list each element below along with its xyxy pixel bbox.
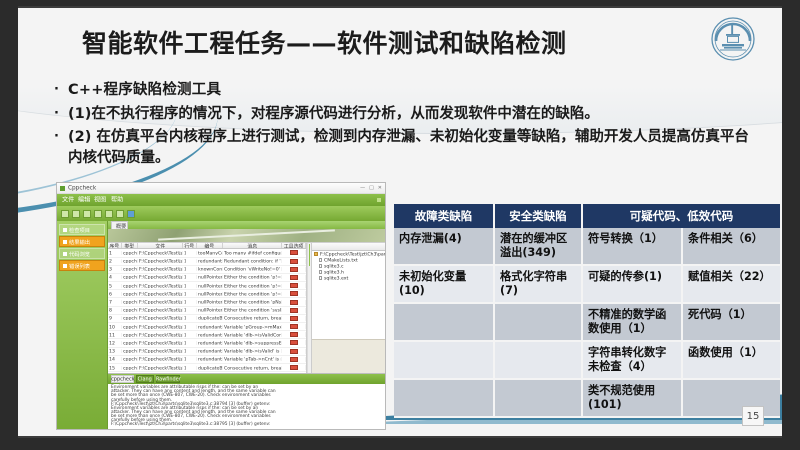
error-badge-icon xyxy=(290,340,298,345)
table-cell: 未初始化变量(10) xyxy=(394,265,494,303)
table-row[interactable]: 12cppcheckF:\Cppcheck\Test\jzt\2cdp...84… xyxy=(108,339,306,347)
grid-cell-line: ] xyxy=(183,357,197,361)
warning-icon xyxy=(63,264,67,268)
file-tree-footer xyxy=(312,339,385,373)
grid-cell-sev: cppcheck xyxy=(122,259,138,263)
table-row[interactable]: 3cppcheckF:\Cppcheck\Test\jzt\2cdp...871… xyxy=(108,266,306,274)
log-tab-rawfinder[interactable]: Rawfinder xyxy=(156,375,181,383)
grid-cell-msg: Either the condition 'pNs!=0' is redunda… xyxy=(223,300,283,304)
grid-cell-line: ] xyxy=(183,333,197,337)
sidebar-item-error-list[interactable]: 错误列表 xyxy=(59,260,105,271)
grid-cell-sev: cppcheck xyxy=(122,357,138,361)
sidebar-item-code-browser[interactable]: 代码浏览 xyxy=(59,248,105,259)
table-row: 字符串转化数字未检查（4）函数使用（1） xyxy=(394,341,780,379)
table-header-row: 故障类缺陷 安全类缺陷 可疑代码、低效代码 xyxy=(394,204,780,228)
grid-cell-line: ] xyxy=(183,292,197,296)
grid-cell-msg: Either the condition 'p!=0' is redundant… xyxy=(223,292,283,296)
table-cell xyxy=(394,379,494,417)
table-cell: 符号转换（1） xyxy=(582,228,682,265)
grid-cell-sev: cppcheck xyxy=(122,333,138,337)
grid-cell-msg: Either the condition 'p!=0' is redundant… xyxy=(223,284,283,288)
grid-cell-no: 1 xyxy=(108,251,122,255)
page-number: 15 xyxy=(742,406,764,426)
app-main-pane: 概要 序号 类型 文件 行号 编号 消息 工具选项 xyxy=(108,221,385,429)
grid-cell-msg: Variable 'dlb->isValidConfExist' is reas… xyxy=(223,333,283,337)
grid-cell-file: F:\Cppcheck\Test\jzt\2cdp...8434 xyxy=(138,341,184,345)
grid-cell-id: nullPointerRed... xyxy=(197,308,223,312)
grid-cell-sev: cppcheck xyxy=(122,349,138,353)
log-tab-clang[interactable]: Clang xyxy=(136,375,153,383)
grid-cell-no: 12 xyxy=(108,341,122,345)
app-sidebar: 检查项目 结果输出 代码浏览 错误列表 xyxy=(57,221,108,429)
grid-cell-action[interactable] xyxy=(282,357,306,362)
grid-cell-no: 10 xyxy=(108,325,122,329)
grid-cell-line: ] xyxy=(183,259,197,263)
grid-cell-action[interactable] xyxy=(282,275,306,280)
grid-cell-id: nullPointerRed... xyxy=(197,300,223,304)
file-icon xyxy=(319,264,322,268)
list-item: · (2) 在仿真平台内核程序上进行测试，检测到内存泄漏、未初始化变量等缺陷，辅… xyxy=(54,127,754,168)
grid-cell-id: redundantAss... xyxy=(197,357,223,361)
grid-cell-sev: cppcheck xyxy=(122,316,138,320)
column-header-no[interactable]: 序号 xyxy=(108,243,122,248)
grid-cell-no: 4 xyxy=(108,275,122,279)
grid-cell-id: nullPointerRed... xyxy=(197,292,223,296)
grid-cell-line: ] xyxy=(183,366,197,370)
grid-cell-action[interactable] xyxy=(282,267,306,272)
grid-cell-id: duplicateBreak xyxy=(197,316,223,320)
grid-cell-file: F:\Cppcheck\Test\jzt\2cdp...8897 xyxy=(138,349,184,353)
table-cell: 类不规范使用(101) xyxy=(582,379,682,417)
table-cell xyxy=(394,341,494,379)
error-badge-icon xyxy=(290,291,298,296)
table-cell xyxy=(682,379,780,417)
app-menubar: 文件 编辑 视图 帮助 xyxy=(57,194,385,206)
grid-cell-id: duplicateBreak xyxy=(197,366,223,370)
toolbar-new-icon[interactable] xyxy=(61,210,69,218)
table-cell: 函数使用（1） xyxy=(682,341,780,379)
grid-cell-line: ] xyxy=(183,251,197,255)
app-window-title: Cppcheck xyxy=(68,185,96,191)
grid-cell-id: redundantAss... xyxy=(197,333,223,337)
grid-cell-msg: Variable 'dlb->suppressErr' is reassigne… xyxy=(223,341,283,345)
table-row: 内存泄漏(4)潜在的缓冲区溢出(349)符号转换（1）条件相关（6） xyxy=(394,228,780,265)
grid-cell-file: F:\Cppcheck\Test\jzt\2cdp...7807 xyxy=(138,333,184,337)
table-cell: 赋值相关（22） xyxy=(682,265,780,303)
error-badge-icon xyxy=(290,324,298,329)
grid-cell-no: 5 xyxy=(108,284,122,288)
grid-cell-msg: Either the condition 'sysItem!=0' is red… xyxy=(223,308,283,312)
file-tree-pane: F:\Cppcheck\Test\jzt\Ch3\parts\sqlite3 C… xyxy=(311,243,385,373)
grid-cell-id: tooManyConfigs xyxy=(197,251,223,255)
table-row[interactable]: 7cppcheckF:\Cppcheck\Test\jzt\2cdp...843… xyxy=(108,298,306,306)
toolbar-check-icon[interactable] xyxy=(94,210,102,218)
column-header-actions[interactable]: 工具选项 xyxy=(282,243,306,248)
grid-cell-no: 11 xyxy=(108,333,122,337)
grid-cell-no: 3 xyxy=(108,267,122,271)
log-line: F:\Cppcheck\Test\jzt\Ch3\parts\sqlite3\s… xyxy=(111,423,382,427)
bullet-text: C++程序缺陷检测工具 xyxy=(68,80,754,101)
grid-cell-file: F:\Cppcheck\Test\jzt\2cdp...8717 xyxy=(138,267,184,271)
error-badge-icon xyxy=(290,332,298,337)
error-badge-icon xyxy=(290,349,298,354)
app-grid-area: 序号 类型 文件 行号 编号 消息 工具选项 1cppcheckF:\Cppch… xyxy=(108,243,385,373)
column-header-line[interactable]: 行号 xyxy=(183,243,197,248)
toolbar-clear-icon[interactable] xyxy=(116,210,124,218)
grid-cell-file: F:\Cppcheck\Test\jzt\2cdp...8431 xyxy=(138,300,184,304)
grid-cell-id: nullPointerRed... xyxy=(197,284,223,288)
slide-bottom-rule xyxy=(18,436,782,438)
folder-icon xyxy=(314,252,318,256)
table-row: 不精准的数学函数使用（1）死代码（1） xyxy=(394,303,780,341)
table-row[interactable]: 1cppcheckF:\Cppcheck\Test\jzt\2cdp...3]t… xyxy=(108,249,306,257)
grid-cell-msg: Variable 'pTab->nCnt' is reassigned a va… xyxy=(223,357,283,361)
menu-item-file[interactable]: 文件 xyxy=(62,196,74,205)
grid-cell-file: F:\Cppcheck\Test\jzt\2cdp...4702 xyxy=(138,325,184,329)
list-item: · (1)在不执行程序的情况下，对程序源代码进行分析，从而发现软件中潜在的缺陷。 xyxy=(54,104,754,125)
grid-cell-sev: cppcheck xyxy=(122,366,138,370)
grid-cell-sev: cppcheck xyxy=(122,308,138,312)
grid-cell-line: ] xyxy=(183,267,197,271)
grid-cell-line: ] xyxy=(183,325,197,329)
grid-cell-msg: Either the condition 'p!=0' is redundant… xyxy=(223,275,283,279)
column-header-type[interactable]: 类型 xyxy=(122,243,138,248)
page-title: 智能软件工程任务——软件测试和缺陷检测 xyxy=(82,24,567,60)
results-table-body: 1cppcheckF:\Cppcheck\Test\jzt\2cdp...3]t… xyxy=(108,249,306,373)
grid-cell-file: F:\Cppcheck\Test\jzt\2cdp...7883 xyxy=(138,366,184,370)
sidebar-item-results[interactable]: 结果输出 xyxy=(59,236,105,247)
error-badge-icon xyxy=(290,275,298,280)
column-header-id[interactable]: 编号 xyxy=(197,243,223,248)
grid-cell-line: ] xyxy=(183,349,197,353)
column-header-message[interactable]: 消息 xyxy=(223,243,283,248)
defect-category-table: 故障类缺陷 安全类缺陷 可疑代码、低效代码 内存泄漏(4)潜在的缓冲区溢出(34… xyxy=(394,204,780,418)
table-row[interactable]: 15cppcheckF:\Cppcheck\Test\jzt\2cdp...78… xyxy=(108,364,306,372)
grid-cell-sev: cppcheck xyxy=(122,267,138,271)
grid-cell-action[interactable] xyxy=(282,365,306,370)
toolbar-stop-icon[interactable] xyxy=(105,210,113,218)
grid-cell-file: F:\Cppcheck\Test\jzt\2cdp...1126 xyxy=(138,357,184,361)
grid-cell-line: ] xyxy=(183,341,197,345)
bullet-text: (2) 在仿真平台内核程序上进行测试，检测到内存泄漏、未初始化变量等缺陷，辅助开… xyxy=(68,127,754,168)
grid-cell-action[interactable] xyxy=(282,324,306,329)
sidebar-item-label: 代码浏览 xyxy=(69,250,90,258)
folder-icon xyxy=(63,228,67,232)
table-cell xyxy=(494,341,582,379)
grid-cell-id: redundantAss... xyxy=(197,341,223,345)
slide-canvas: 智能软件工程任务——软件测试和缺陷检测 · C++程序缺陷检测工具 · (1)在… xyxy=(18,6,782,438)
grid-cell-id: redundantCon... xyxy=(197,259,223,263)
table-cell xyxy=(494,303,582,341)
toolbar-save-icon[interactable] xyxy=(83,210,91,218)
grid-cell-no: 8 xyxy=(108,308,122,312)
sidebar-item-check-project[interactable]: 检查项目 xyxy=(59,224,105,235)
list-item: · C++程序缺陷检测工具 xyxy=(54,80,754,101)
grid-cell-id: redundantAss... xyxy=(197,325,223,329)
error-badge-icon xyxy=(290,308,298,313)
grid-cell-line: ] xyxy=(183,308,197,312)
app-log-panel: cppcheck Clang Rawfinder Environment var… xyxy=(108,373,385,429)
grid-cell-msg: Variable 'dlb->isValid' is reassigned a … xyxy=(223,349,283,353)
table-row[interactable]: 13cppcheckF:\Cppcheck\Test\jzt\2cdp...88… xyxy=(108,348,306,356)
grid-cell-no: 7 xyxy=(108,300,122,304)
grid-cell-action[interactable] xyxy=(282,332,306,337)
maximize-icon[interactable]: □ xyxy=(369,185,374,191)
log-tab-cppcheck[interactable]: cppcheck xyxy=(111,375,135,383)
table-body: 内存泄漏(4)潜在的缓冲区溢出(349)符号转换（1）条件相关（6）未初始化变量… xyxy=(394,228,780,417)
grid-cell-file: F:\Cppcheck\Test\jzt\2cdp...4829 xyxy=(138,259,184,263)
grid-cell-file: F:\Cppcheck\Test\jzt\2cdp...1085 xyxy=(138,316,184,320)
app-titlebar: Cppcheck — □ ✕ xyxy=(57,183,385,194)
grid-cell-sev: cppcheck xyxy=(122,325,138,329)
table-row[interactable]: 6cppcheckF:\Cppcheck\Test\jzt\2cdp...773… xyxy=(108,290,306,298)
grid-cell-msg: Consecutive return, break, continue, got… xyxy=(223,316,283,320)
table-cell: 可疑的传参(1) xyxy=(582,265,682,303)
table-cell: 格式化字符串(7) xyxy=(494,265,582,303)
tab-summary[interactable]: 概要 xyxy=(111,221,128,229)
grid-cell-id: knownConditi... xyxy=(197,267,223,271)
cppcheck-app-screenshot: Cppcheck — □ ✕ 文件 编辑 视图 帮助 xyxy=(56,182,386,430)
grid-cell-action[interactable] xyxy=(282,316,306,321)
table-cell: 不精准的数学函数使用（1） xyxy=(582,303,682,341)
bullet-text: (1)在不执行程序的情况下，对程序源代码进行分析，从而发现软件中潜在的缺陷。 xyxy=(68,104,754,125)
code-icon xyxy=(63,252,67,256)
grid-cell-file: F:\Cppcheck\Test\jzt\2cdp...7731 xyxy=(138,292,184,296)
column-header-suspicious-code: 可疑代码、低效代码 xyxy=(582,204,780,228)
grid-cell-action[interactable] xyxy=(282,259,306,264)
app-toolbar xyxy=(57,206,385,221)
file-icon xyxy=(319,270,322,274)
grid-cell-msg: Consecutive return, break, continue, got… xyxy=(223,366,283,370)
app-logo-icon xyxy=(60,186,65,191)
error-badge-icon xyxy=(290,267,298,272)
sidebar-item-label: 检查项目 xyxy=(69,226,90,234)
grid-cell-sev: cppcheck xyxy=(122,292,138,296)
grid-cell-no: 2 xyxy=(108,259,122,263)
bullet-marker: · xyxy=(54,127,68,147)
table-row[interactable]: 4cppcheckF:\Cppcheck\Test\jzt\2cdp...773… xyxy=(108,274,306,282)
bullet-marker: · xyxy=(54,80,68,100)
close-icon[interactable]: ✕ xyxy=(378,185,382,191)
grid-cell-no: 15 xyxy=(108,366,122,370)
grid-cell-msg: Variable 'pGroup->mMaxFlags' is reassign… xyxy=(223,325,283,329)
grid-cell-sev: cppcheck xyxy=(122,341,138,345)
file-icon xyxy=(319,258,322,262)
error-badge-icon xyxy=(290,250,298,255)
grid-cell-action[interactable] xyxy=(282,308,306,313)
column-header-security-defects: 安全类缺陷 xyxy=(494,204,582,228)
menu-item-help[interactable]: 帮助 xyxy=(111,196,123,205)
minimize-icon[interactable]: — xyxy=(360,185,365,191)
file-tree-empty-space xyxy=(312,281,385,339)
sidebar-item-label: 错误列表 xyxy=(69,262,90,270)
error-badge-icon xyxy=(290,357,298,362)
error-badge-icon xyxy=(290,300,298,305)
table-row[interactable]: 14cppcheckF:\Cppcheck\Test\jzt\2cdp...11… xyxy=(108,356,306,364)
grid-cell-id: redundantAss... xyxy=(197,349,223,353)
grid-cell-line: ] xyxy=(183,316,197,320)
grid-cell-sev: cppcheck xyxy=(122,275,138,279)
grid-cell-line: ] xyxy=(183,284,197,288)
menu-item-edit[interactable]: 编辑 xyxy=(78,196,90,205)
column-header-file[interactable]: 文件 xyxy=(138,243,184,248)
university-seal-logo xyxy=(708,14,758,64)
bullet-marker: · xyxy=(54,104,68,124)
grid-cell-line: ] xyxy=(183,300,197,304)
grid-cell-file: F:\Cppcheck\Test\jzt\2cdp...3 xyxy=(138,251,184,255)
grid-cell-action[interactable] xyxy=(282,300,306,305)
grid-cell-action[interactable] xyxy=(282,349,306,354)
table-row: 类不规范使用(101) xyxy=(394,379,780,417)
table-row: 未初始化变量(10)格式化字符串(7)可疑的传参(1)赋值相关（22） xyxy=(394,265,780,303)
table-cell: 条件相关（6） xyxy=(682,228,780,265)
grid-cell-no: 9 xyxy=(108,316,122,320)
table-row[interactable]: 9cppcheckF:\Cppcheck\Test\jzt\2cdp...108… xyxy=(108,315,306,323)
table-row[interactable]: 5cppcheckF:\Cppcheck\Test\jzt\2cdp...773… xyxy=(108,282,306,290)
grid-cell-no: 13 xyxy=(108,349,122,353)
window-controls: — □ ✕ xyxy=(360,185,382,191)
app-banner-image xyxy=(108,229,385,243)
grid-cell-action[interactable] xyxy=(282,340,306,345)
table-row[interactable]: 10cppcheckF:\Cppcheck\Test\jzt\2cdp...47… xyxy=(108,323,306,331)
table-cell: 潜在的缓冲区溢出(349) xyxy=(494,228,582,265)
error-badge-icon xyxy=(290,365,298,370)
grid-cell-no: 14 xyxy=(108,357,122,361)
grid-cell-action[interactable] xyxy=(282,283,306,288)
app-tabstrip: 概要 xyxy=(108,221,385,229)
scrollbar-thumb[interactable] xyxy=(309,244,310,266)
toolbar-open-icon[interactable] xyxy=(72,210,80,218)
table-cell xyxy=(394,303,494,341)
grid-cell-sev: cppcheck xyxy=(122,300,138,304)
grid-cell-action[interactable] xyxy=(282,250,306,255)
grid-cell-action[interactable] xyxy=(282,291,306,296)
tree-node-label: sqlite3.ext xyxy=(324,275,348,281)
grid-cell-msg: Condition 'vWriteNo!=0' is always true xyxy=(223,267,283,271)
menu-item-view[interactable]: 视图 xyxy=(94,196,106,205)
table-cell xyxy=(494,379,582,417)
grid-cell-sev: cppcheck xyxy=(122,251,138,255)
log-output[interactable]: Environment variables are attributable r… xyxy=(108,384,385,429)
table-cell: 内存泄漏(4) xyxy=(394,228,494,265)
grid-cell-msg: Too many #ifdef configurations - cppchec… xyxy=(223,251,283,255)
grid-cell-sev: cppcheck xyxy=(122,284,138,288)
error-badge-icon xyxy=(290,259,298,264)
table-row[interactable]: 11cppcheckF:\Cppcheck\Test\jzt\2cdp...78… xyxy=(108,331,306,339)
column-header-fault-defects: 故障类缺陷 xyxy=(394,204,494,228)
grid-cell-msg: Redundant condition: if 'pos == 0', the … xyxy=(223,259,283,263)
list-icon xyxy=(63,240,67,244)
slide-top-rule xyxy=(18,6,782,8)
log-tabstrip: cppcheck Clang Rawfinder xyxy=(108,374,385,384)
app-body: 检查项目 结果输出 代码浏览 错误列表 概要 xyxy=(57,221,385,429)
results-table: 序号 类型 文件 行号 编号 消息 工具选项 1cppcheckF:\Cppch… xyxy=(108,243,307,373)
table-row[interactable]: 8cppcheckF:\Cppcheck\Test\jzt\2cdp...108… xyxy=(108,307,306,315)
sidebar-item-label: 结果输出 xyxy=(69,238,90,246)
grid-cell-id: nullPointerRed... xyxy=(197,275,223,279)
table-cell: 字符串转化数字未检查（4） xyxy=(582,341,682,379)
grid-cell-file: F:\Cppcheck\Test\jzt\2cdp...7734 xyxy=(138,275,184,279)
grid-cell-line: ] xyxy=(183,275,197,279)
toolbar-settings-icon[interactable] xyxy=(127,210,135,218)
grid-cell-file: F:\Cppcheck\Test\jzt\2cdp...1084 xyxy=(138,308,184,312)
grid-cell-no: 6 xyxy=(108,292,122,296)
grid-cell-file: F:\Cppcheck\Test\jzt\2cdp...7735 xyxy=(138,284,184,288)
error-badge-icon xyxy=(290,283,298,288)
file-icon xyxy=(319,276,322,280)
help-indicator-icon[interactable] xyxy=(377,198,381,202)
table-cell: 死代码（1） xyxy=(682,303,780,341)
bullet-list: · C++程序缺陷检测工具 · (1)在不执行程序的情况下，对程序源代码进行分析… xyxy=(54,80,754,171)
table-row[interactable]: 2cppcheckF:\Cppcheck\Test\jzt\2cdp...482… xyxy=(108,258,306,266)
error-badge-icon xyxy=(290,316,298,321)
